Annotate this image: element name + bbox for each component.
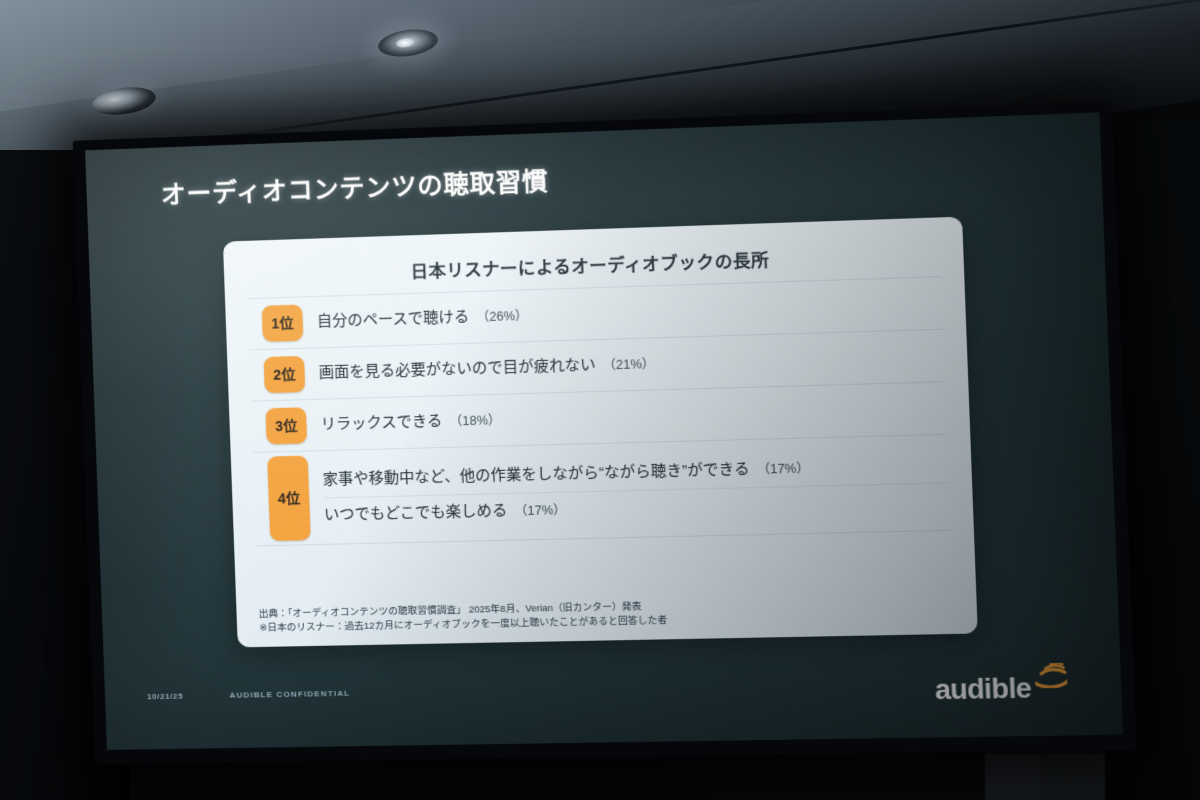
rank-badge: 1位 xyxy=(262,304,304,341)
list-item-label: 家事や移動中など、他の作業をしながら“ながら聴き”ができる xyxy=(322,458,750,492)
projection-screen: オーディオコンテンツの聴取習慣 日本リスナーによるオーディオブックの長所 1位 … xyxy=(85,112,1123,750)
audible-logo: audible xyxy=(934,663,1070,705)
list-item-label: 自分のペースで聴ける xyxy=(317,306,470,334)
audible-swoosh-icon xyxy=(1032,663,1070,694)
list-item-texts: 家事や移動中など、他の作業をしながら“ながら聴き”ができる （17%） いつでも… xyxy=(322,439,950,540)
rank-badge: 2位 xyxy=(264,356,306,393)
slide-footer-date: 10/21/25 xyxy=(147,692,183,702)
list-item-label: リラックスできる xyxy=(320,410,442,437)
rank-badge: 3位 xyxy=(265,407,307,444)
list-item-percent: （26%） xyxy=(476,307,528,328)
slide-title: オーディオコンテンツの聴取習慣 xyxy=(160,162,549,212)
slide-footer-confidential: AUDIBLE CONFIDENTIAL xyxy=(229,689,350,700)
list-item: 4位 家事や移動中など、他の作業をしながら“ながら聴き”ができる （17%） い… xyxy=(253,435,951,547)
list-item-texts: リラックスできる （18%） xyxy=(320,391,946,442)
list-item-line: 自分のペースで聴ける （26%） xyxy=(316,286,942,339)
list-item-texts: 自分のペースで聴ける （26%） xyxy=(316,286,942,339)
footnotes: 出典：「オーディオコンテンツの聴取習慣調査」 2025年8月、Verian（旧カ… xyxy=(259,593,954,637)
list-item-label: いつでもどこでも楽しめる xyxy=(324,499,508,527)
list-item-percent: （17%） xyxy=(757,459,810,480)
room-photo-background: オーディオコンテンツの聴取習慣 日本リスナーによるオーディオブックの長所 1位 … xyxy=(0,0,1200,800)
list-item-percent: （17%） xyxy=(514,500,566,521)
content-card: 日本リスナーによるオーディオブックの長所 1位 自分のペースで聴ける （26%）… xyxy=(223,217,978,648)
ranking-list: 1位 自分のペースで聴ける （26%） 2位 画面を見る必要がない xyxy=(247,276,950,546)
list-item-percent: （21%） xyxy=(603,355,656,376)
audible-wordmark: audible xyxy=(934,675,1031,704)
list-item-line: 画面を見る必要がないので目が疲れない （21%） xyxy=(318,338,944,390)
list-item-label: 画面を見る必要がないので目が疲れない xyxy=(318,354,596,386)
list-item-line: リラックスできる （18%） xyxy=(320,391,946,442)
rank-badge: 4位 xyxy=(267,456,311,542)
list-item-percent: （18%） xyxy=(449,411,501,432)
list-item-texts: 画面を見る必要がないので目が疲れない （21%） xyxy=(318,338,944,390)
slide-canvas: オーディオコンテンツの聴取習慣 日本リスナーによるオーディオブックの長所 1位 … xyxy=(85,112,1123,750)
